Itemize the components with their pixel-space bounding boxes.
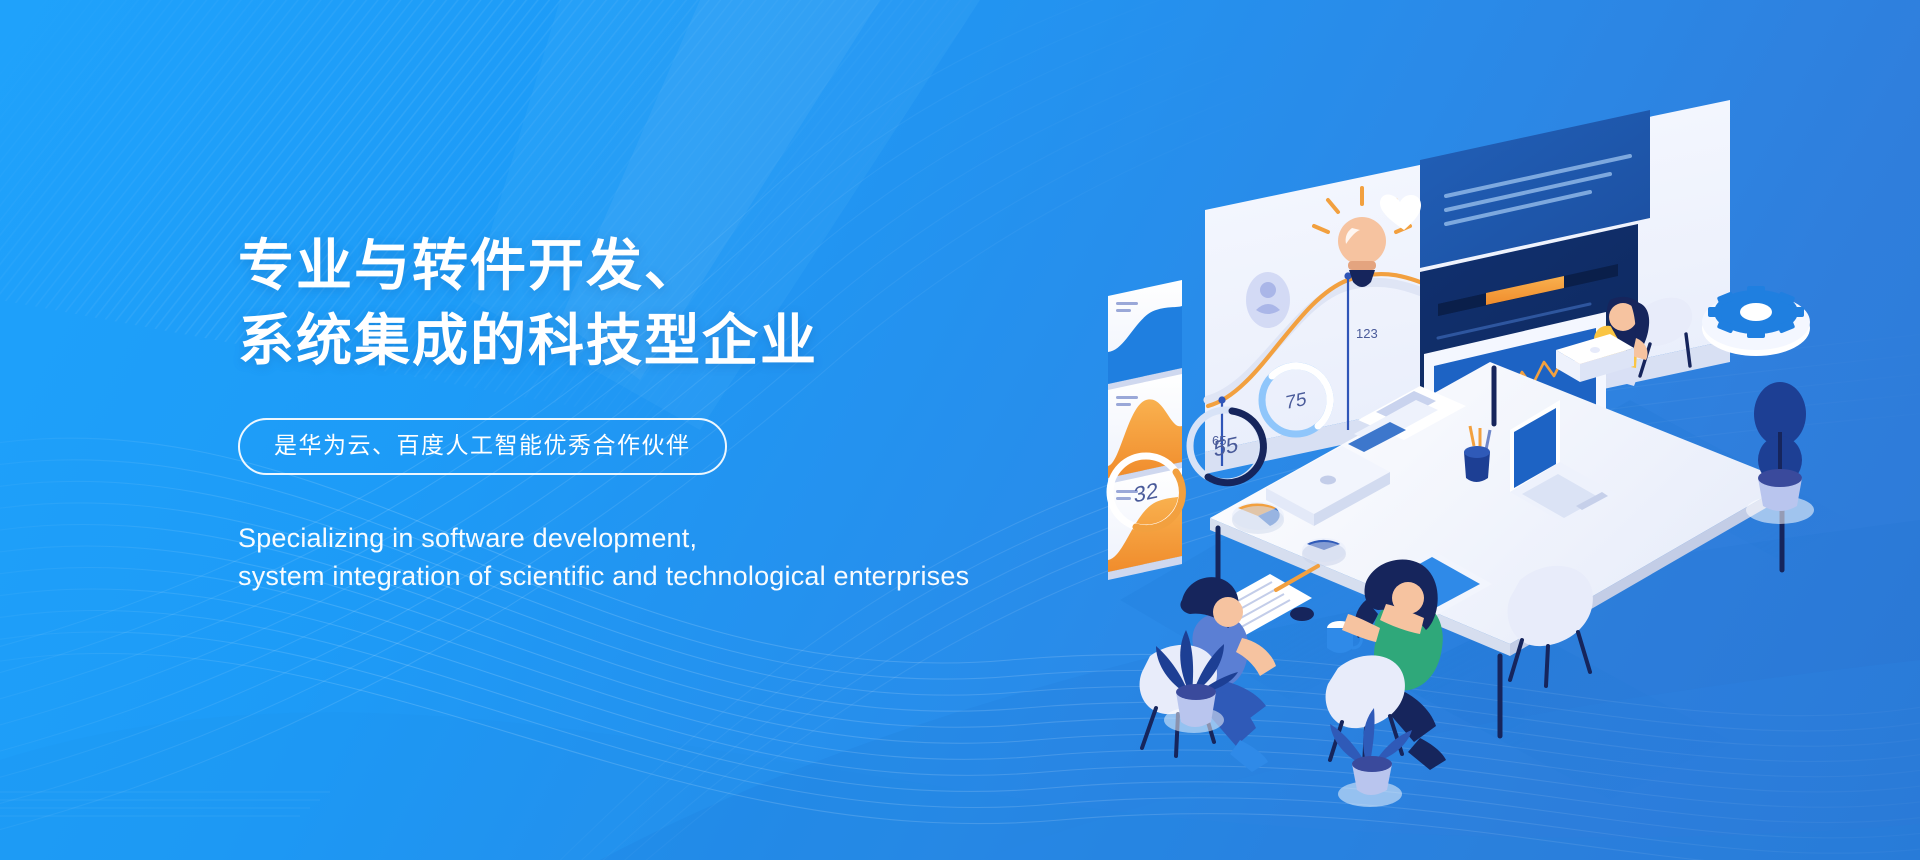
avatar: [1246, 272, 1290, 328]
gauge-55-label: 55: [1214, 432, 1238, 462]
page-title-line-2: 系统集成的科技型企业: [238, 303, 1158, 378]
hero-copy: 专业与转件开发、 系统集成的科技型企业 是华为云、百度人工智能优秀合作伙伴 Sp…: [238, 228, 1158, 596]
desk-object-disc: [1290, 607, 1314, 621]
hero-illustration: 65 123 97 81: [1090, 100, 1920, 760]
hero-banner: 专业与转件开发、 系统集成的科技型企业 是华为云、百度人工智能优秀合作伙伴 Sp…: [0, 0, 1920, 860]
page-title-line-1: 专业与转件开发、: [238, 228, 1158, 303]
pie-chart-icon: [1302, 538, 1346, 566]
subtitle-line-2: system integration of scientific and tec…: [238, 557, 1158, 595]
subtitle-line-1: Specializing in software development,: [238, 519, 1158, 557]
pie-chart-icon: [1232, 502, 1284, 534]
partner-badge: 是华为云、百度人工智能优秀合作伙伴: [238, 418, 727, 475]
topiary-plant-icon: [1746, 382, 1814, 524]
chart-point-label-2: 123: [1356, 326, 1378, 341]
